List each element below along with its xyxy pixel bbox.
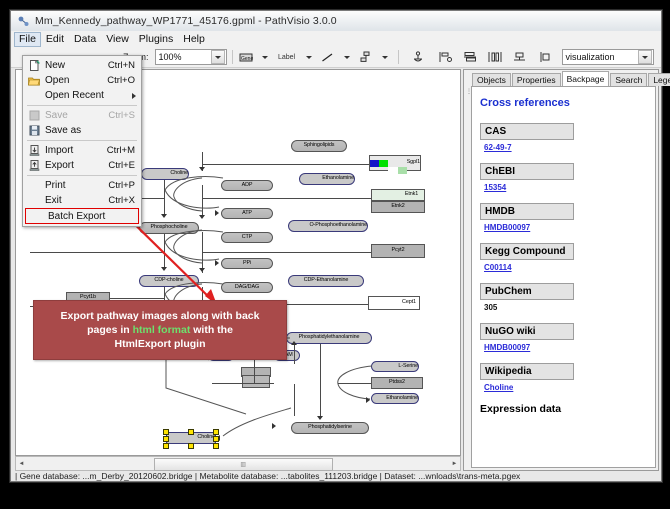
node-label: Ptdss2 bbox=[389, 380, 405, 385]
menu-item-label: New bbox=[45, 60, 108, 71]
new-file-icon bbox=[23, 60, 45, 71]
scrollbar-track[interactable]: ▥ bbox=[27, 458, 449, 469]
callout-highlight: html format bbox=[133, 324, 191, 336]
status-bar: | Gene database: ...m_Derby_20120602.bri… bbox=[15, 470, 657, 481]
toolbar-separator-2 bbox=[398, 50, 399, 64]
export-icon bbox=[23, 160, 45, 171]
menu-item-label: Open bbox=[45, 75, 107, 86]
pathvisio-window: Mm_Kennedy_pathway_WP1771_45176.gpml - P… bbox=[10, 10, 662, 482]
menu-item-label: Exit bbox=[45, 195, 108, 206]
xref-value-cas[interactable]: 62-49-7 bbox=[484, 143, 649, 152]
scroll-right-arrow-icon[interactable]: ► bbox=[449, 458, 460, 469]
canvas-horizontal-scrollbar[interactable]: ◄ ▥ ► bbox=[15, 456, 461, 471]
menu-item-shortcut: Ctrl+N bbox=[108, 60, 141, 71]
node-label: Cept1 bbox=[402, 300, 416, 305]
menu-item-shortcut: Ctrl+O bbox=[107, 75, 141, 86]
chevron-right-icon bbox=[132, 93, 136, 99]
pathway-gene-etnk2[interactable]: Etnk2 bbox=[371, 201, 425, 213]
xref-value-hmdb[interactable]: HMDB00097 bbox=[484, 223, 649, 232]
arrowhead-ptdserine-left bbox=[272, 423, 276, 429]
callout-line2-a: pages in bbox=[87, 324, 133, 336]
node-label: Etnk2 bbox=[391, 204, 404, 209]
datanode-tool-icon[interactable]: Gene bbox=[238, 49, 254, 65]
chevron-down-icon[interactable] bbox=[211, 50, 225, 64]
datanode-dropdown-icon[interactable] bbox=[257, 49, 273, 65]
arrowhead-ptdserine bbox=[317, 416, 323, 420]
xref-header-wikipedia: Wikipedia bbox=[480, 363, 574, 380]
xref-value-wikipedia[interactable]: Choline bbox=[484, 383, 649, 392]
distribute-tool-icon[interactable] bbox=[487, 49, 503, 65]
xref-link-hmdb[interactable]: HMDB00097 bbox=[484, 223, 530, 232]
node-label: Ethanolamine bbox=[322, 176, 354, 181]
menu-item-print[interactable]: Print Ctrl+P bbox=[23, 178, 141, 193]
menu-item-batch-export[interactable]: Batch Export bbox=[25, 208, 139, 224]
edge-choline-selected-link bbox=[211, 406, 296, 444]
backpage-content: Cross references CAS 62-49-7 ChEBI 15354… bbox=[471, 86, 656, 468]
menu-item-exit[interactable]: Exit Ctrl+X bbox=[23, 193, 141, 208]
node-label: Sphingolipids bbox=[304, 143, 335, 148]
node-label: Pcyt2 bbox=[392, 248, 405, 253]
expression-data-heading: Expression data bbox=[480, 403, 649, 415]
menu-item-label: Batch Export bbox=[48, 211, 138, 222]
line-tool-icon[interactable] bbox=[320, 49, 336, 65]
zoom-value: 100% bbox=[159, 52, 182, 62]
menu-item-shortcut: Ctrl+M bbox=[107, 145, 141, 156]
xref-header-cas: CAS bbox=[480, 123, 574, 140]
zoom-combobox[interactable]: 100% bbox=[155, 49, 227, 65]
import-icon bbox=[23, 145, 45, 156]
tab-search[interactable]: Search bbox=[610, 73, 647, 86]
callout-line-3: HtmlExport plugin bbox=[115, 337, 206, 351]
menu-item-new[interactable]: New Ctrl+N bbox=[23, 58, 141, 73]
pathway-gene-ptdss2[interactable]: Ptdss2 bbox=[371, 377, 423, 389]
pathway-node-ethanolamine-top[interactable]: Ethanolamine bbox=[299, 173, 355, 185]
menu-file[interactable]: File bbox=[14, 32, 41, 47]
xref-header-kegg: Kegg Compound bbox=[480, 243, 574, 260]
menu-item-shortcut: Ctrl+S bbox=[108, 110, 141, 121]
xref-value-nugowiki[interactable]: HMDB00097 bbox=[484, 343, 649, 352]
svg-text:Gene: Gene bbox=[241, 56, 253, 62]
menu-item-label: Import bbox=[45, 145, 107, 156]
edge-sgpl1-connector bbox=[202, 164, 369, 165]
node-label: ADP bbox=[242, 183, 253, 188]
label-dropdown-icon[interactable] bbox=[301, 49, 317, 65]
tab-objects[interactable]: Objects bbox=[472, 73, 511, 86]
pathway-gene-etnk1[interactable]: Etnk1 bbox=[371, 189, 425, 201]
tab-backpage[interactable]: Backpage bbox=[562, 71, 610, 86]
backpage-side-panel: Objects Properties Backpage Search Legen… bbox=[463, 69, 659, 471]
screenshot-root: Mm_Kennedy_pathway_WP1771_45176.gpml - P… bbox=[0, 0, 670, 509]
node-label: O-Phosphoethanolamine bbox=[309, 223, 367, 228]
pathway-node-choline-selected[interactable]: Choline bbox=[166, 432, 216, 444]
save-as-icon bbox=[23, 125, 45, 136]
annotation-callout: Export pathway images along with back pa… bbox=[33, 300, 287, 360]
menu-separator-3 bbox=[27, 175, 137, 176]
file-menu-dropdown[interactable]: New Ctrl+N Open Ctrl+O Open Recent bbox=[22, 55, 142, 227]
menu-plugins[interactable]: Plugins bbox=[134, 32, 178, 47]
open-folder-icon bbox=[23, 76, 45, 86]
pathway-gene-sgpl1[interactable]: Sgpl1 bbox=[369, 155, 421, 171]
menu-item-label: Open Recent bbox=[45, 90, 141, 101]
group-tool-icon[interactable] bbox=[512, 49, 528, 65]
menu-item-open[interactable]: Open Ctrl+O bbox=[23, 73, 141, 88]
xref-link-wikipedia[interactable]: Choline bbox=[484, 383, 513, 392]
arrowhead-ethanolamine-bottom bbox=[366, 397, 370, 403]
xref-value-chebi[interactable]: 15354 bbox=[484, 183, 649, 192]
menubar: File Edit Data View Plugins Help bbox=[11, 31, 661, 48]
visualization-combobox[interactable]: visualization bbox=[562, 49, 654, 65]
menu-view[interactable]: View bbox=[101, 32, 134, 47]
menu-item-label: Print bbox=[45, 180, 108, 191]
menu-item-label: Save bbox=[45, 110, 108, 121]
pathway-node-l-serine[interactable]: L-Serine bbox=[371, 361, 419, 372]
align-tool-icon[interactable] bbox=[437, 49, 453, 65]
anchor-tool-icon[interactable] bbox=[410, 49, 426, 65]
save-disk-icon bbox=[23, 110, 45, 121]
window-title: Mm_Kennedy_pathway_WP1771_45176.gpml - P… bbox=[35, 15, 337, 27]
pathvisio-app-icon bbox=[17, 15, 30, 28]
menu-item-import[interactable]: Import Ctrl+M bbox=[23, 143, 141, 158]
edge-ptdss2-connector bbox=[338, 383, 371, 384]
interaction-tool-icon[interactable] bbox=[358, 49, 374, 65]
xref-header-pubchem: PubChem bbox=[480, 283, 574, 300]
node-label: Choline bbox=[170, 171, 188, 176]
stack-tool-icon[interactable] bbox=[462, 49, 478, 65]
pathway-node-ethanolamine-bottom[interactable]: Ethanolamine bbox=[371, 393, 419, 404]
pathway-gene-cept1[interactable]: Cept1 bbox=[368, 296, 420, 310]
xref-link-kegg[interactable]: C00114 bbox=[484, 263, 512, 272]
arrowhead-ptdetn-up bbox=[291, 341, 297, 345]
label-tool-icon[interactable]: Label bbox=[276, 49, 298, 65]
visualization-value: visualization bbox=[566, 52, 615, 62]
pathway-node-phosphatidylserine[interactable]: Phosphatidylserine bbox=[291, 422, 369, 434]
pathway-node-sphingolipids[interactable]: Sphingolipids bbox=[291, 140, 347, 152]
interaction-dropdown-icon[interactable] bbox=[377, 49, 393, 65]
node-label: CDP-Ethanolamine bbox=[304, 278, 349, 283]
menu-item-label: Export bbox=[45, 160, 108, 171]
callout-line-2: pages in html format with the bbox=[87, 323, 233, 337]
menu-item-label: Save as bbox=[45, 125, 135, 136]
pathway-node-o-phosphoethanolamine[interactable]: O-Phosphoethanolamine bbox=[288, 220, 368, 232]
xref-value-pubchem: 305 bbox=[484, 303, 649, 312]
order-tool-icon[interactable] bbox=[537, 49, 553, 65]
menu-separator bbox=[27, 105, 137, 106]
node-label: Etnk1 bbox=[405, 192, 418, 197]
pathway-node-phosphatidylethanolamine[interactable]: Phosphatidylethanolamine bbox=[286, 332, 372, 344]
menu-separator-2 bbox=[27, 140, 137, 141]
menu-item-open-recent[interactable]: Open Recent bbox=[23, 88, 141, 103]
node-label: Phosphatidylserine bbox=[308, 425, 352, 430]
visualization-chevron-down-icon[interactable] bbox=[638, 50, 652, 64]
arrowhead-ethanolamine bbox=[199, 167, 205, 171]
xref-link-chebi[interactable]: 15354 bbox=[484, 183, 506, 192]
tab-legend[interactable]: Legend bbox=[648, 73, 670, 86]
callout-line2-b: with the bbox=[190, 324, 233, 336]
menu-item-shortcut: Ctrl+X bbox=[108, 195, 141, 206]
side-panel-tabs: Objects Properties Backpage Search Legen… bbox=[464, 72, 658, 86]
xref-header-nugowiki: NuGO wiki bbox=[480, 323, 574, 340]
side-panel-splitter[interactable]: ⋮ bbox=[464, 86, 471, 468]
xref-header-chebi: ChEBI bbox=[480, 163, 574, 180]
cross-references-heading: Cross references bbox=[480, 97, 649, 109]
menu-help[interactable]: Help bbox=[178, 32, 210, 47]
menu-item-save-as[interactable]: Save as bbox=[23, 123, 141, 138]
xref-header-hmdb: HMDB bbox=[480, 203, 574, 220]
node-label: Phosphatidylethanolamine bbox=[299, 335, 360, 340]
pathway-gene-pcyt2[interactable]: Pcyt2 bbox=[371, 244, 425, 258]
menu-data[interactable]: Data bbox=[69, 32, 101, 47]
xref-value-kegg[interactable]: C00114 bbox=[484, 263, 649, 272]
menu-edit[interactable]: Edit bbox=[41, 32, 69, 47]
menu-item-shortcut: Ctrl+E bbox=[108, 160, 141, 171]
node-label: L-Serine bbox=[398, 364, 418, 369]
line-dropdown-icon[interactable] bbox=[339, 49, 355, 65]
scroll-left-arrow-icon[interactable]: ◄ bbox=[16, 458, 27, 469]
xref-link-cas[interactable]: 62-49-7 bbox=[484, 143, 512, 152]
tab-properties[interactable]: Properties bbox=[512, 73, 561, 86]
arrowhead-choline-selected bbox=[216, 435, 220, 441]
pathway-node-cdp-ethanolamine[interactable]: CDP-Ethanolamine bbox=[288, 275, 364, 287]
menu-item-shortcut: Ctrl+P bbox=[108, 180, 141, 191]
menu-item-save: Save Ctrl+S bbox=[23, 108, 141, 123]
toolbar-separator bbox=[232, 50, 233, 64]
xref-link-nugowiki[interactable]: HMDB00097 bbox=[484, 343, 530, 352]
window-titlebar: Mm_Kennedy_pathway_WP1771_45176.gpml - P… bbox=[11, 11, 661, 32]
node-label: Sgpl1 bbox=[407, 160, 420, 165]
menu-item-export[interactable]: Export Ctrl+E bbox=[23, 158, 141, 173]
node-label: Choline bbox=[197, 435, 215, 440]
node-label: Ethanolamine bbox=[386, 396, 418, 401]
callout-line-1: Export pathway images along with back bbox=[61, 309, 260, 323]
